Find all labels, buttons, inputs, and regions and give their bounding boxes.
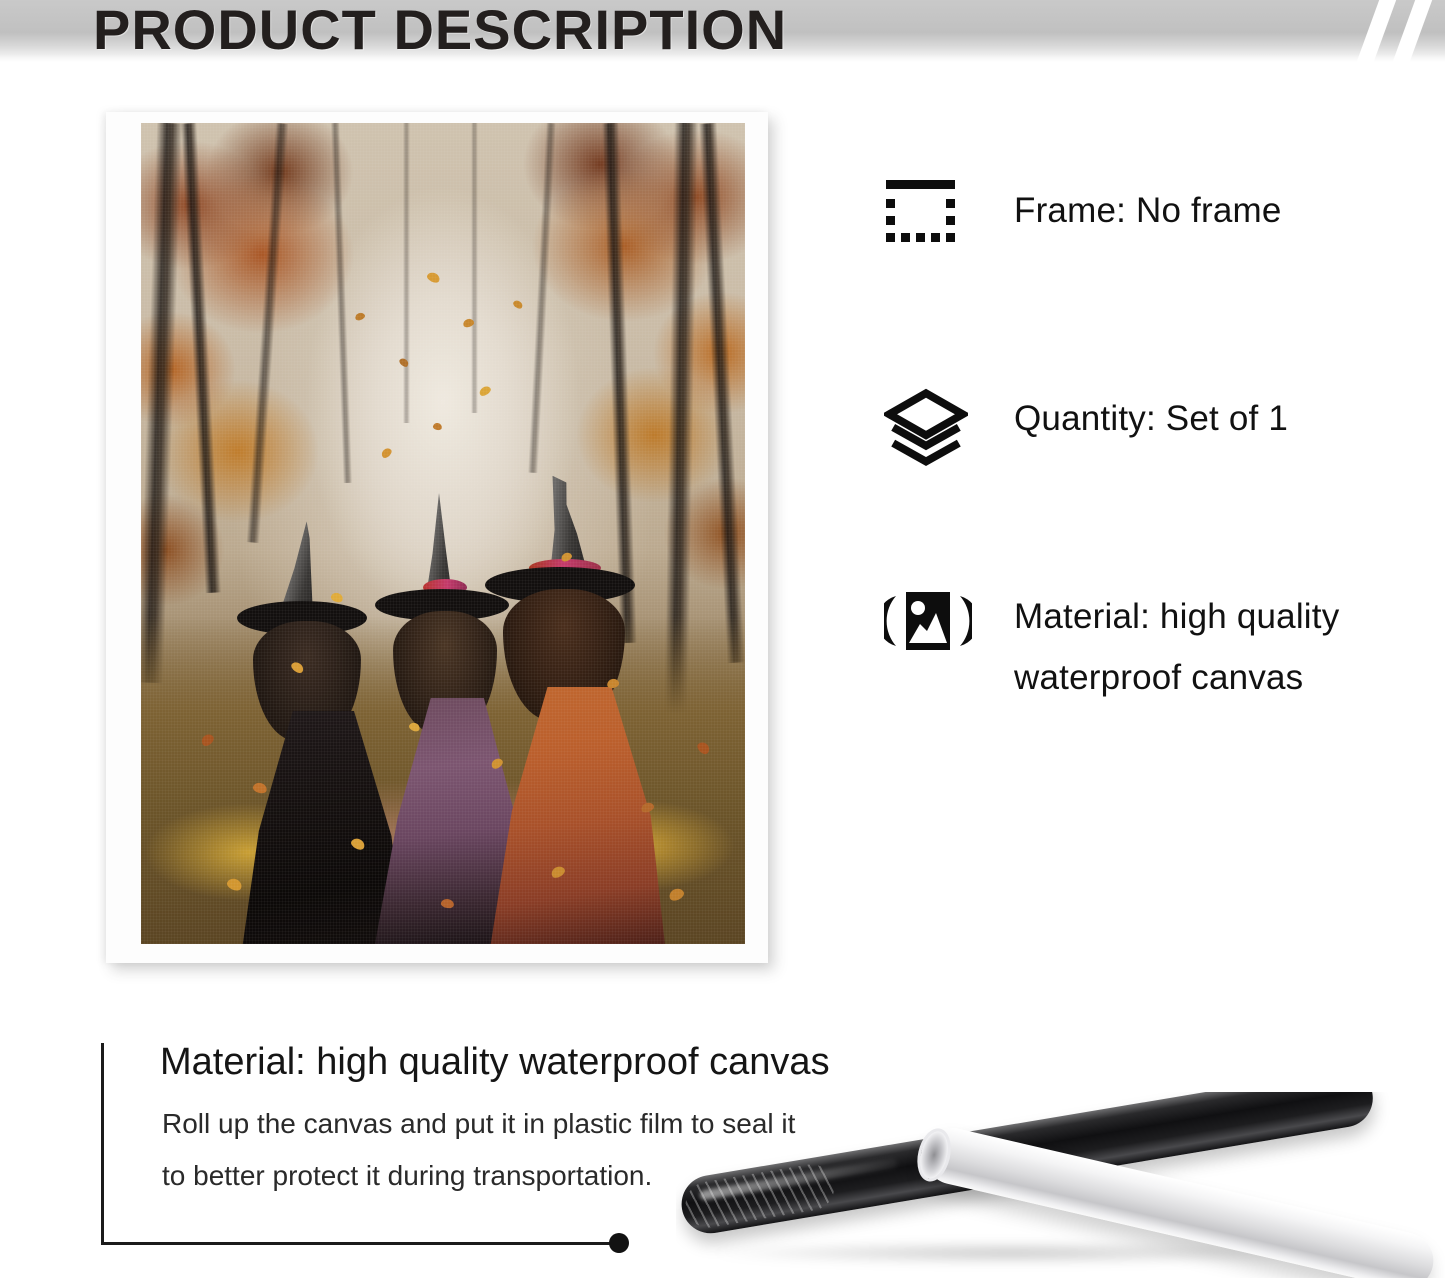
- product-artwork-image: [141, 123, 745, 944]
- spec-line: Material: high quality: [1014, 586, 1339, 647]
- bottom-section-title: Material: high quality waterproof canvas: [160, 1041, 830, 1084]
- frame-icon: [884, 180, 970, 266]
- banner-slash-icon: [1386, 0, 1438, 63]
- banner-slash-icon: [1350, 0, 1402, 63]
- spec-label-frame: Frame: No frame: [1014, 180, 1282, 241]
- product-canvas-frame: [106, 112, 768, 963]
- artwork-falling-leaves: [141, 123, 745, 944]
- page-title: PRODUCT DESCRIPTION: [93, 0, 787, 61]
- packaging-photo: [676, 1092, 1445, 1278]
- spec-row-quantity: Quantity: Set of 1: [884, 388, 1404, 474]
- spec-row-frame: Frame: No frame: [884, 180, 1404, 266]
- spec-line: Frame: No frame: [1014, 180, 1282, 241]
- layers-icon: [884, 388, 970, 474]
- header-banner: PRODUCT DESCRIPTION: [0, 0, 1445, 63]
- bracket-end-dot-icon: [609, 1233, 629, 1253]
- spec-label-quantity: Quantity: Set of 1: [1014, 388, 1288, 449]
- spec-label-material: Material: high quality waterproof canvas: [1014, 586, 1339, 708]
- spec-line: Quantity: Set of 1: [1014, 388, 1288, 449]
- image-icon: [884, 586, 970, 672]
- spec-line: waterproof canvas: [1014, 647, 1339, 708]
- spec-row-material: Material: high quality waterproof canvas: [884, 586, 1404, 708]
- product-spec-list: Frame: No frame Quantity: Set of 1: [884, 180, 1404, 708]
